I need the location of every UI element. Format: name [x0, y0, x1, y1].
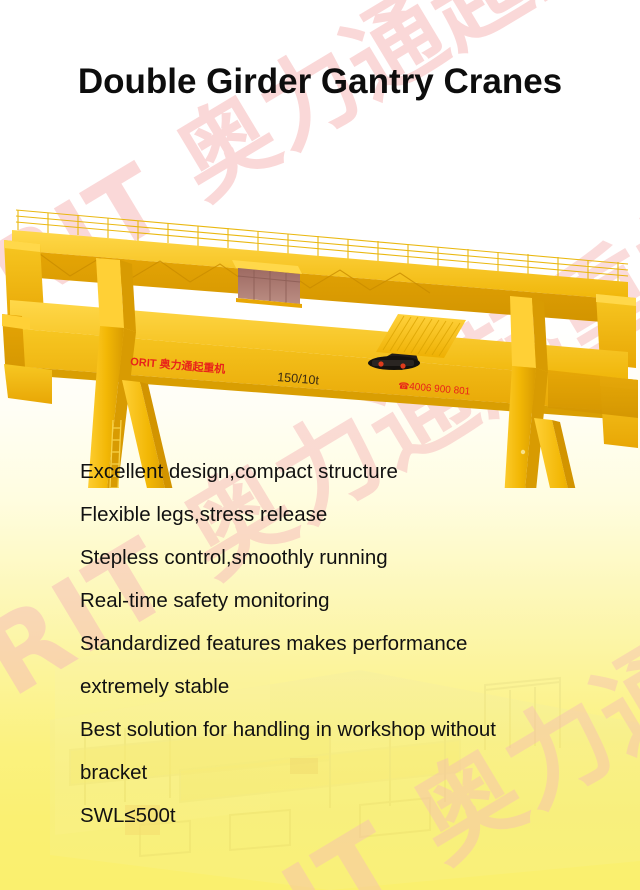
feature-item: Excellent design,compact structure [80, 450, 600, 493]
feature-item: bracket [80, 751, 600, 794]
page-title: Double Girder Gantry Cranes [0, 62, 640, 102]
feature-item: extremely stable [80, 665, 600, 708]
gantry-crane-illustration: ORIT 奥力通起重机 150/10t ☎ 4006 900 801 [0, 118, 640, 488]
feature-item: Best solution for handling in workshop w… [80, 708, 600, 751]
feature-item: Real-time safety monitoring [80, 579, 600, 622]
feature-item: Stepless control,smoothly running [80, 536, 600, 579]
feature-list: Excellent design,compact structure Flexi… [80, 450, 600, 837]
poster-page: ORIT 奥力通起重机 ORIT 奥力通起重机 ORIT 奥力通起重机 Doub… [0, 0, 640, 890]
feature-item: Flexible legs,stress release [80, 493, 600, 536]
operator-cabin [232, 260, 302, 308]
feature-item: SWL≤500t [80, 794, 600, 837]
feature-item: Standardized features makes performance [80, 622, 600, 665]
